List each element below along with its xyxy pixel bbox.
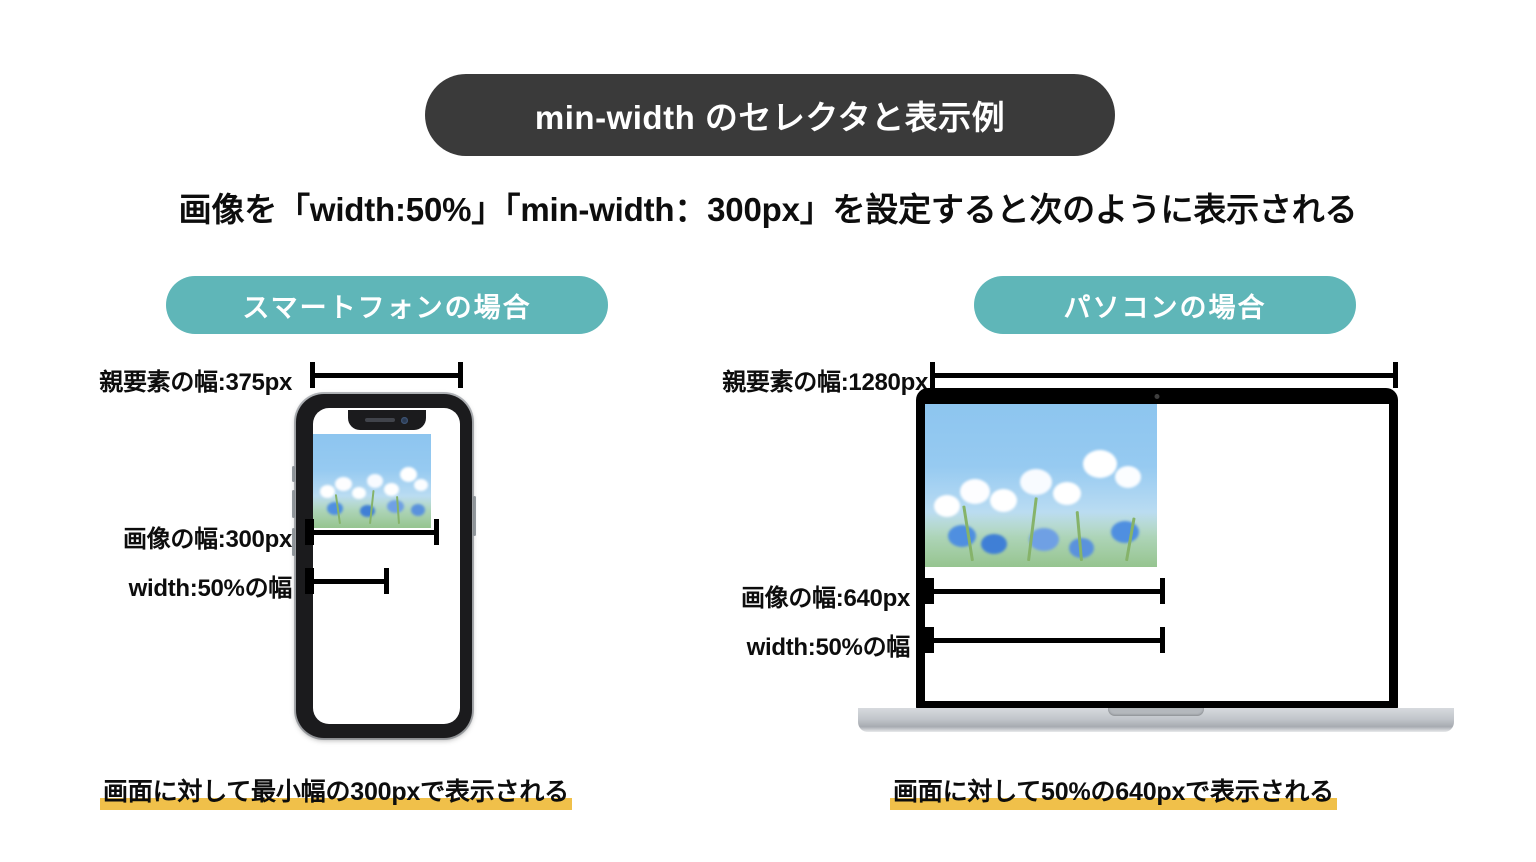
photo-flower xyxy=(990,489,1017,512)
laptop-base xyxy=(858,708,1454,732)
phone-notch xyxy=(348,410,426,430)
photo-flower xyxy=(400,467,417,482)
sp-image-bar-cap-left xyxy=(305,519,314,545)
section-pill-pc: パソコンの場合 xyxy=(974,276,1356,334)
photo-flower xyxy=(960,479,990,504)
laptop-mockup xyxy=(916,388,1398,710)
pc-image-width-bar xyxy=(925,578,1165,604)
pc-parent-bar-line xyxy=(930,373,1398,378)
sp-image-bar-line xyxy=(305,530,439,535)
photo-flower xyxy=(948,525,976,547)
phone-power-button[interactable] xyxy=(473,496,476,536)
pc-parent-width-label: 親要素の幅:1280px xyxy=(680,362,928,397)
photo-flower xyxy=(367,474,383,488)
phone-mute-switch[interactable] xyxy=(292,528,295,556)
pc-fifty-bar-cap-left xyxy=(925,627,934,653)
sp-fifty-bar-line xyxy=(305,579,389,584)
photo-flower xyxy=(352,487,366,499)
phone-body xyxy=(296,394,472,738)
photo-flower-blue xyxy=(327,502,343,515)
page-subtitle: 画像を「width:50%」「min-width：300px」を設定すると次のよ… xyxy=(0,183,1536,231)
phone-volume-down-button[interactable] xyxy=(292,490,295,518)
page-title: min-width のセレクタと表示例 xyxy=(535,91,1005,139)
pc-flower-photo xyxy=(925,404,1157,567)
sp-fifty-bar-cap-left xyxy=(305,568,314,594)
laptop-base-notch xyxy=(1108,708,1204,716)
laptop-webcam-icon xyxy=(1155,394,1160,399)
photo-flower xyxy=(1115,466,1141,488)
sp-caption: 画面に対して最小幅の300pxで表示される xyxy=(100,772,572,810)
section-pill-pc-label: パソコンの場合 xyxy=(1064,286,1267,325)
phone-volume-up-button[interactable] xyxy=(292,466,295,482)
pc-image-bar-line xyxy=(925,589,1165,594)
photo-flower-blue xyxy=(411,504,425,516)
sp-fifty-bar-cap-right xyxy=(384,568,389,594)
pc-fifty-bar-cap-right xyxy=(1160,627,1165,653)
smartphone-mockup xyxy=(294,392,474,740)
sp-flower-photo xyxy=(313,434,431,528)
photo-flower xyxy=(335,477,352,491)
photo-flower xyxy=(384,483,399,496)
photo-flower xyxy=(320,485,335,498)
sp-fifty-width-bar xyxy=(305,568,389,594)
pc-parent-bar-cap-right xyxy=(1393,362,1398,388)
phone-front-camera-icon xyxy=(401,417,408,424)
pc-parent-bar-cap-left xyxy=(930,362,935,388)
pc-fifty-width-label: width:50%の幅 xyxy=(722,627,910,662)
sp-image-bar-cap-right xyxy=(434,519,439,545)
photo-flower xyxy=(1020,469,1052,495)
sp-parent-width-label: 親要素の幅:375px xyxy=(72,362,292,397)
sp-image-width-label: 画像の幅:300px xyxy=(100,519,292,554)
section-pill-smartphone: スマートフォンの場合 xyxy=(166,276,608,334)
sp-image-width-bar xyxy=(305,519,439,545)
sp-parent-bar-cap-left xyxy=(310,362,315,388)
sp-parent-bar-cap-right xyxy=(458,362,463,388)
laptop-screen xyxy=(925,404,1389,701)
pc-image-bar-cap-right xyxy=(1160,578,1165,604)
pc-image-width-label: 画像の幅:640px xyxy=(718,578,910,613)
photo-flower xyxy=(414,479,428,491)
page-title-pill: min-width のセレクタと表示例 xyxy=(425,74,1115,156)
photo-flower xyxy=(1053,482,1081,505)
phone-screen xyxy=(313,408,460,724)
sp-parent-width-bar xyxy=(310,362,463,388)
section-pill-smartphone-label: スマートフォンの場合 xyxy=(242,286,531,325)
pc-image-bar-cap-left xyxy=(925,578,934,604)
sp-fifty-width-label: width:50%の幅 xyxy=(104,568,292,603)
sp-parent-bar-line xyxy=(310,373,463,378)
laptop-lid xyxy=(916,388,1398,710)
pc-parent-width-bar xyxy=(930,362,1398,388)
pc-fifty-bar-line xyxy=(925,638,1165,643)
phone-speaker-icon xyxy=(365,418,395,422)
photo-flower xyxy=(1083,450,1117,478)
pc-caption: 画面に対して50%の640pxで表示される xyxy=(890,772,1337,810)
pc-fifty-width-bar xyxy=(925,627,1165,653)
